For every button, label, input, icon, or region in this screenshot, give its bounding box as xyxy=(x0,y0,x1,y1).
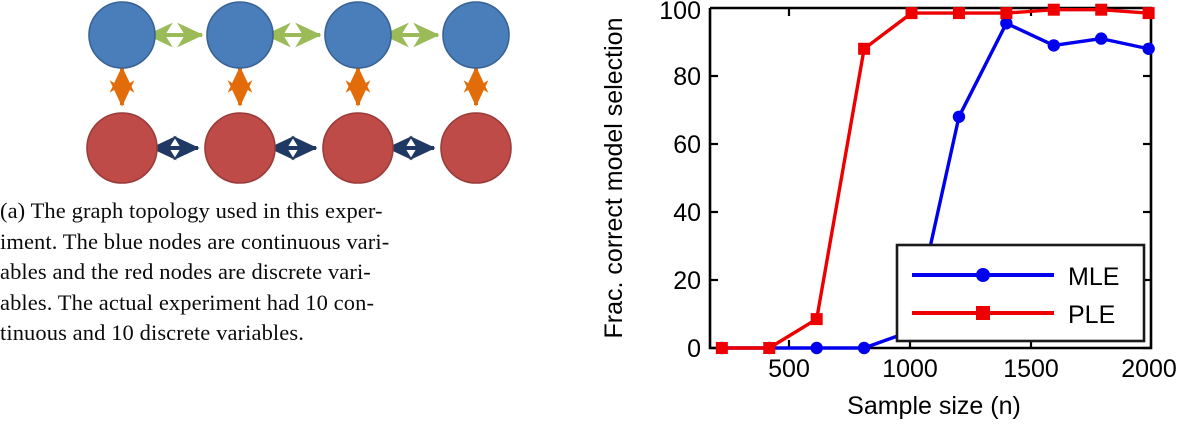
datapoint-square-icon xyxy=(1095,4,1107,16)
y-tick-label-0: 0 xyxy=(687,335,701,363)
caption-line: ables and the red nodes are discrete var… xyxy=(0,257,468,288)
discrete-node-3 xyxy=(323,113,393,183)
y-tick-label-20: 20 xyxy=(673,267,701,295)
datapoint-square-icon xyxy=(1048,4,1060,16)
edge-cross-group xyxy=(122,68,476,105)
datapoint-square-icon xyxy=(716,342,728,354)
model-selection-line-chart: 0 20 40 60 80 100 500 1000 1500 2000 Sam… xyxy=(592,0,1184,427)
chart-legend[interactable]: MLE PLE xyxy=(897,245,1144,341)
panel-a-graph-topology: (a) The graph topology used in this expe… xyxy=(0,0,592,427)
datapoint-square-icon xyxy=(1143,7,1155,19)
datapoint-circle-icon xyxy=(953,111,965,123)
x-tick-label-1500: 1500 xyxy=(1003,355,1059,383)
x-tick-label-500: 500 xyxy=(768,355,810,383)
caption-line: (a) The graph topology used in this expe… xyxy=(0,196,468,227)
x-tick-labels: 500 1000 1500 2000 xyxy=(768,355,1177,383)
y-tick-label-100: 100 xyxy=(659,0,701,25)
datapoint-circle-icon xyxy=(810,342,822,354)
datapoint-square-icon xyxy=(763,342,775,354)
graph-topology-diagram xyxy=(0,0,592,190)
datapoint-circle-icon xyxy=(1048,39,1060,51)
legend-marker-mle-circle-icon xyxy=(976,268,990,282)
legend-label-ple: PLE xyxy=(1068,301,1115,329)
panel-a-caption: (a) The graph topology used in this expe… xyxy=(0,196,468,349)
legend-label-mle: MLE xyxy=(1068,263,1119,291)
y-tick-label-60: 60 xyxy=(673,131,701,159)
datapoint-circle-icon xyxy=(858,342,870,354)
panel-b-chart: 0 20 40 60 80 100 500 1000 1500 2000 Sam… xyxy=(592,0,1184,427)
discrete-node-4 xyxy=(441,113,511,183)
datapoint-circle-icon xyxy=(1095,32,1107,44)
continuous-node-1 xyxy=(89,2,155,68)
datapoint-circle-icon xyxy=(1142,43,1154,55)
caption-line: tinuous and 10 discrete variables. xyxy=(0,318,468,349)
caption-line: iment. The blue nodes are continuous var… xyxy=(0,227,468,258)
datapoint-square-icon xyxy=(906,7,918,19)
y-tick-label-40: 40 xyxy=(673,199,701,227)
datapoint-square-icon xyxy=(858,43,870,55)
continuous-node-3 xyxy=(325,2,391,68)
graph-topology-svg xyxy=(0,0,592,190)
datapoint-square-icon xyxy=(953,7,965,19)
y-tick-label-80: 80 xyxy=(673,63,701,91)
discrete-node-2 xyxy=(205,113,275,183)
figure-root: (a) The graph topology used in this expe… xyxy=(0,0,1184,427)
y-axis-title: Frac. correct model selection xyxy=(600,18,628,339)
discrete-node-1 xyxy=(87,113,157,183)
datapoint-square-icon xyxy=(1000,7,1012,19)
legend-marker-ple-square-icon xyxy=(976,306,990,320)
continuous-node-4 xyxy=(443,2,509,68)
x-tick-label-1000: 1000 xyxy=(882,355,938,383)
x-axis-title: Sample size (n) xyxy=(847,392,1021,420)
continuous-node-2 xyxy=(207,2,273,68)
datapoint-square-icon xyxy=(811,313,823,325)
x-tick-label-2000: 2000 xyxy=(1121,355,1177,383)
caption-line: ables. The actual experiment had 10 con- xyxy=(0,288,468,319)
y-tick-labels: 0 20 40 60 80 100 xyxy=(659,0,701,363)
